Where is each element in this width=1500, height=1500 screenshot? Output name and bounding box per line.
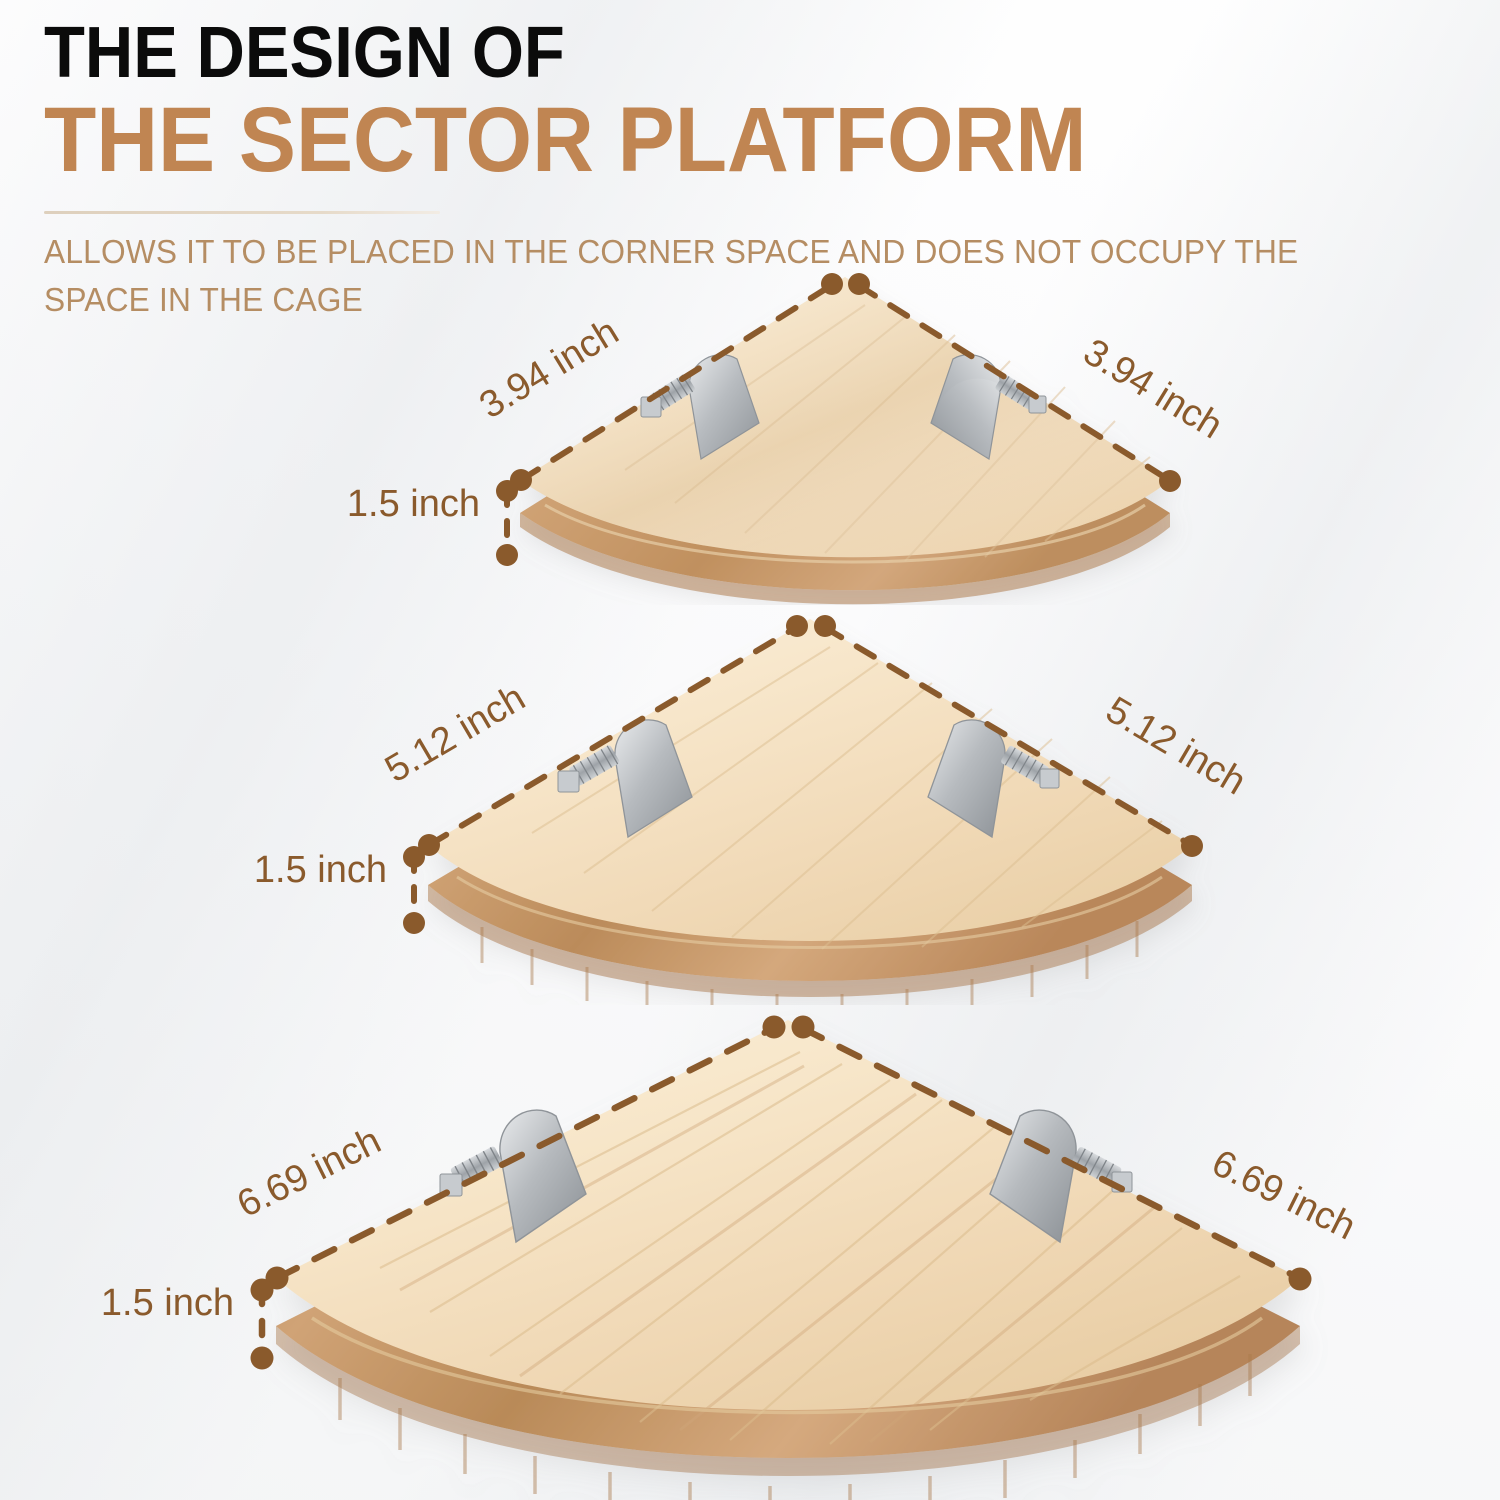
medium-thickness-label: 1.5 inch — [227, 849, 387, 892]
header-block: THE DESIGN OF THE SECTOR PLATFORM — [44, 16, 1464, 188]
header-divider-rule — [44, 211, 440, 214]
headline-line-2: THE SECTOR PLATFORM — [44, 92, 1365, 188]
small-thickness-label: 1.5 inch — [325, 483, 480, 526]
product-medium-corner-platform: 5.12 inch 5.12 inch 1.5 inch — [232, 605, 1412, 1005]
large-shelf-wood — [100, 1000, 1500, 1500]
medium-shelf-wood — [232, 605, 1412, 1005]
large-thickness-label: 1.5 inch — [72, 1282, 234, 1325]
product-small-corner-platform: 3.94 inch 3.94 inch 1.5 inch — [345, 265, 1365, 605]
product-large-corner-platform: 6.69 inch 6.69 inch 1.5 inch — [100, 1000, 1500, 1500]
headline-line-1: THE DESIGN OF — [44, 16, 1365, 90]
